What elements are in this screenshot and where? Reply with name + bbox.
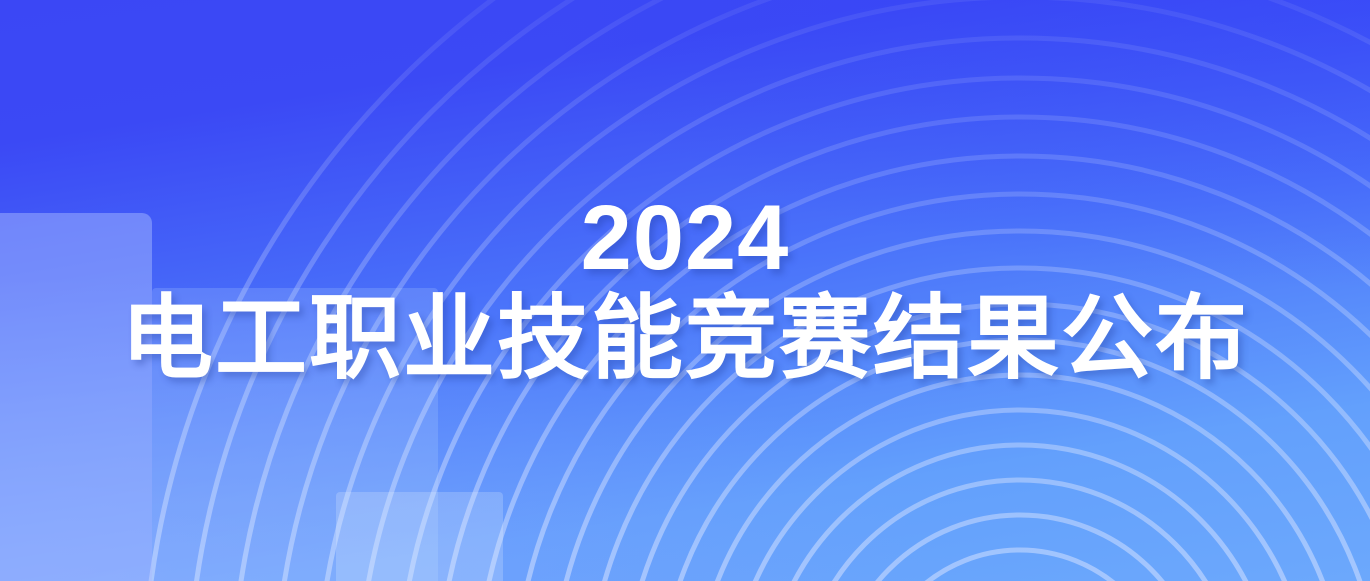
banner-year: 2024 (581, 192, 790, 284)
banner-title-group: 2024 电工职业技能竞赛结果公布 (0, 0, 1370, 581)
banner-root: 2024 电工职业技能竞赛结果公布 (0, 0, 1370, 581)
banner-headline: 电工职业技能竞赛结果公布 (121, 290, 1249, 389)
